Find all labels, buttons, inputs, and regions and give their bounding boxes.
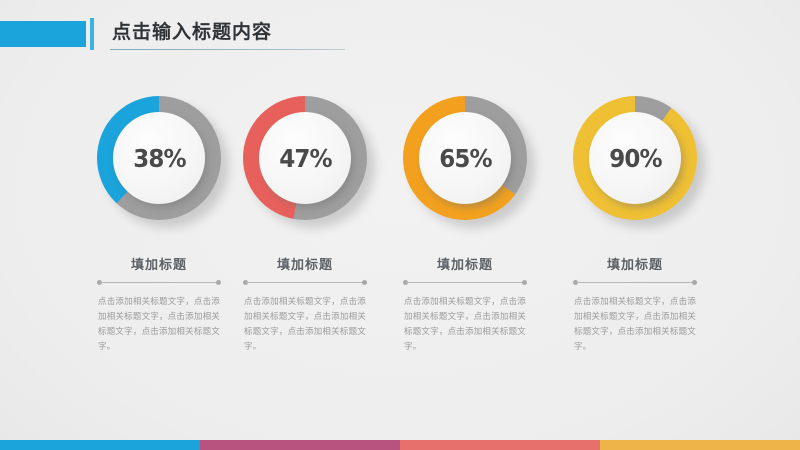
donut-column-3[interactable]: 65% 填加标题 点击添加相关标题文字，点击添加相关标题文字，点击添加相关标题文… [390, 96, 540, 355]
donut-chart-2[interactable]: 47% [243, 96, 367, 220]
divider-line [576, 282, 694, 283]
header-accent-tick [90, 18, 94, 50]
divider-dot-right [692, 280, 697, 285]
caption-title-3: 填加标题 [390, 254, 540, 273]
footer-segment-1 [0, 440, 200, 450]
page-title: 点击输入标题内容 [112, 19, 272, 45]
footer-segment-3 [400, 440, 600, 450]
donut-center-3: 65% [419, 112, 511, 204]
header-accent-bar [0, 21, 86, 47]
caption-divider-1 [97, 280, 221, 285]
caption-divider-3 [403, 280, 527, 285]
donut-column-4[interactable]: 90% 填加标题 点击添加相关标题文字，点击添加相关标题文字，点击添加相关标题文… [560, 96, 710, 355]
caption-body-4: 点击添加相关标题文字，点击添加相关标题文字，点击添加相关标题文字，点击添加相关标… [574, 295, 696, 355]
caption-title-4: 填加标题 [560, 254, 710, 273]
divider-line [246, 282, 364, 283]
caption-body-1: 点击添加相关标题文字，点击添加相关标题文字，点击添加相关标题文字，点击添加相关标… [98, 295, 220, 355]
donut-value-4: 90% [609, 144, 661, 173]
caption-body-2: 点击添加相关标题文字，点击添加相关标题文字，点击添加相关标题文字，点击添加相关标… [244, 295, 366, 355]
divider-dot-right [216, 280, 221, 285]
divider-dot-right [362, 280, 367, 285]
donut-column-1[interactable]: 38% 填加标题 点击添加相关标题文字，点击添加相关标题文字，点击添加相关标题文… [84, 96, 234, 355]
footer-color-bar [0, 440, 800, 450]
caption-title-2: 填加标题 [230, 254, 380, 273]
header-underline [110, 49, 345, 50]
divider-dot-right [522, 280, 527, 285]
slide-canvas: 点击输入标题内容 38% 填加标题 点击添加相关标题文字，点击添加相关标题文字，… [0, 0, 800, 450]
donut-center-2: 47% [259, 112, 351, 204]
donut-center-1: 38% [113, 112, 205, 204]
donut-value-3: 65% [439, 144, 491, 173]
donut-column-2[interactable]: 47% 填加标题 点击添加相关标题文字，点击添加相关标题文字，点击添加相关标题文… [230, 96, 380, 355]
caption-divider-2 [243, 280, 367, 285]
donut-chart-3[interactable]: 65% [403, 96, 527, 220]
caption-body-3: 点击添加相关标题文字，点击添加相关标题文字，点击添加相关标题文字，点击添加相关标… [404, 295, 526, 355]
footer-segment-2 [200, 440, 400, 450]
donut-value-2: 47% [279, 144, 331, 173]
footer-segment-4 [600, 440, 800, 450]
caption-divider-4 [573, 280, 697, 285]
divider-line [406, 282, 524, 283]
donut-center-4: 90% [589, 112, 681, 204]
donut-chart-1[interactable]: 38% [97, 96, 221, 220]
donut-value-1: 38% [133, 144, 185, 173]
caption-title-1: 填加标题 [84, 254, 234, 273]
donut-chart-group: 38% 填加标题 点击添加相关标题文字，点击添加相关标题文字，点击添加相关标题文… [84, 96, 724, 396]
divider-line [100, 282, 218, 283]
donut-chart-4[interactable]: 90% [573, 96, 697, 220]
